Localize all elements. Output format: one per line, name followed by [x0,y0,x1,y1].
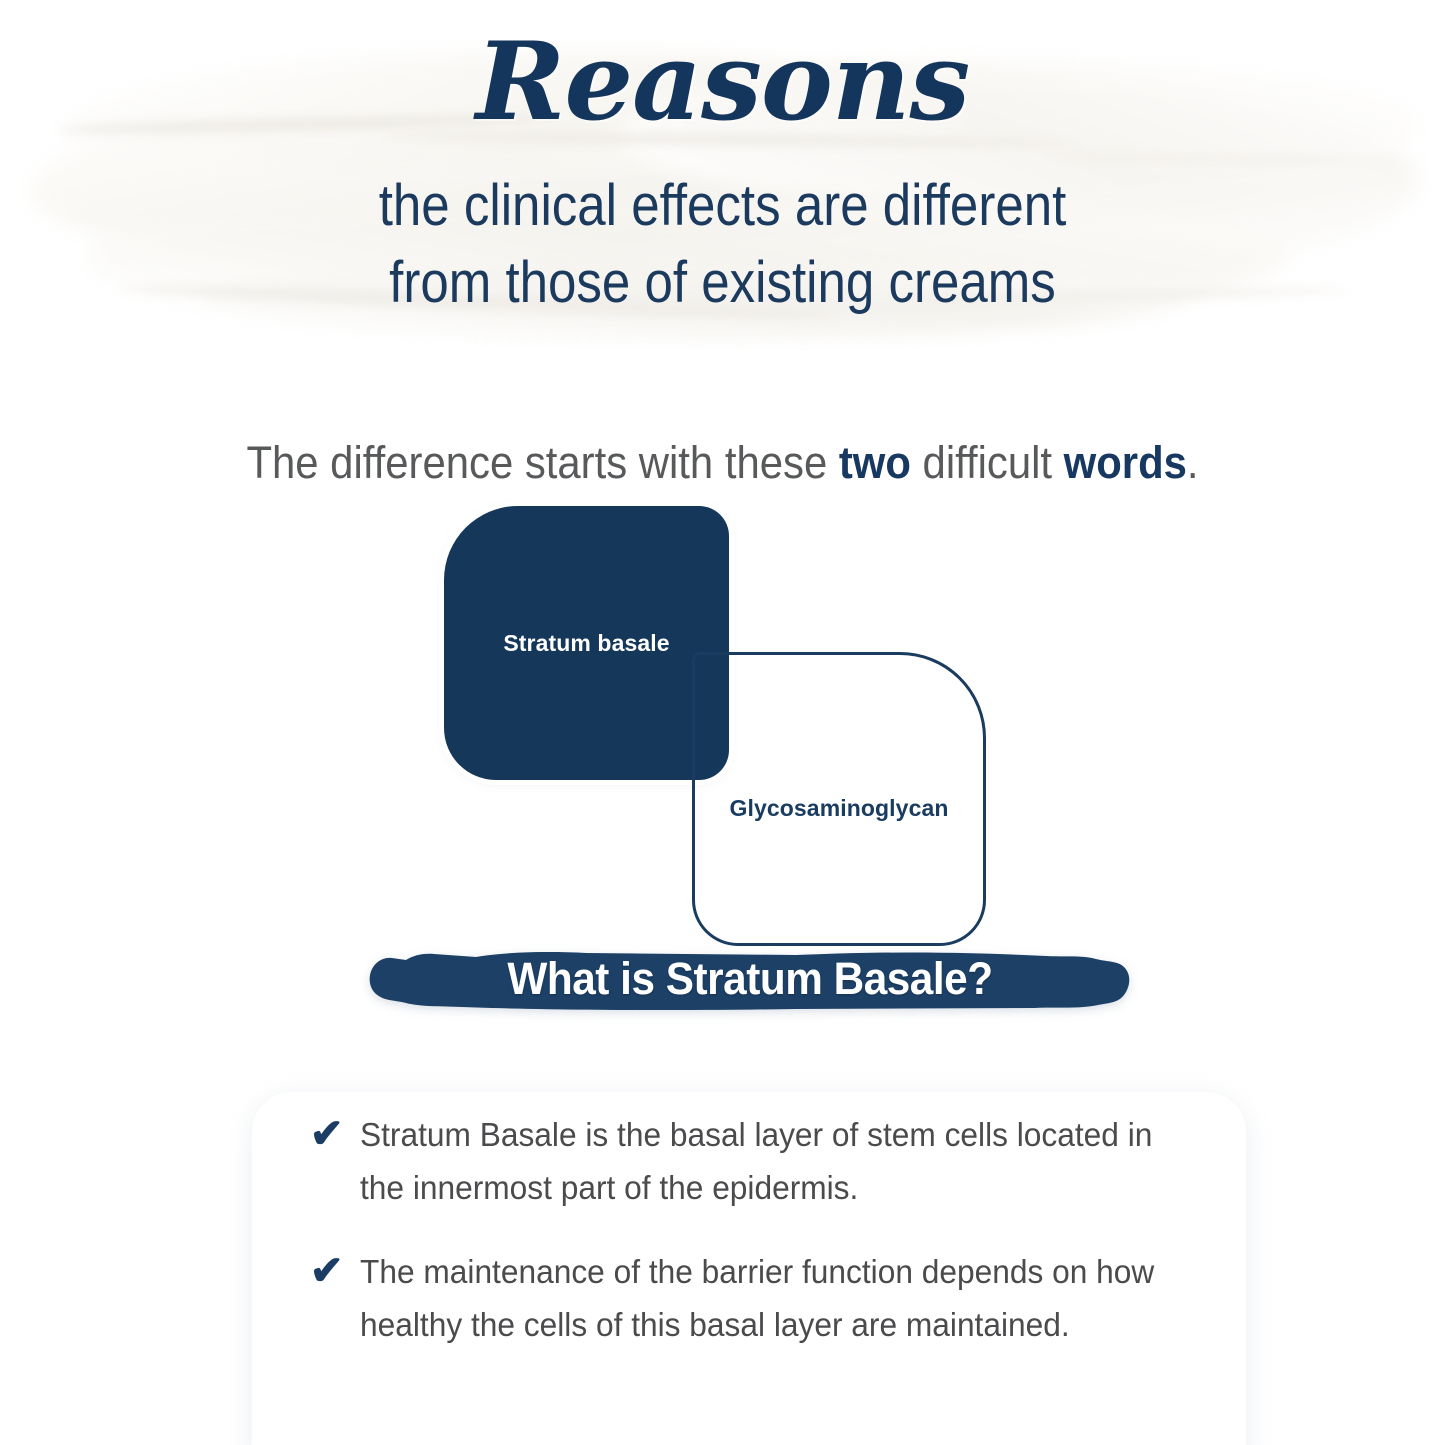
list-item: ✔ The maintenance of the barrier functio… [310,1245,1230,1352]
page-subtitle-line-2: from those of existing creams [87,245,1359,322]
lead-sentence: The difference starts with these two dif… [51,436,1395,490]
section-banner-label: What is Stratum Basale? [389,956,1111,1001]
check-icon: ✔ [310,1114,360,1154]
concept-box-glycosaminoglycan[interactable]: Glycosaminoglycan [692,652,986,946]
page-title: Reasons [0,28,1445,136]
infographic-page: Reasons the clinical effects are differe… [0,0,1445,1445]
lead-part-1: The difference starts with these [246,437,838,488]
concept-box-stratum-basale[interactable]: Stratum basale [444,506,729,780]
page-subtitle-line-1: the clinical effects are different [87,168,1359,245]
lead-emphasis-two: two [839,437,911,488]
list-item-text: The maintenance of the barrier function … [360,1245,1195,1352]
bullet-list: ✔ Stratum Basale is the basal layer of s… [310,1108,1230,1382]
list-item-text: Stratum Basale is the basal layer of ste… [360,1108,1195,1215]
page-subtitle: the clinical effects are different from … [87,168,1359,321]
list-item: ✔ Stratum Basale is the basal layer of s… [310,1108,1230,1215]
check-icon: ✔ [310,1251,360,1291]
lead-emphasis-words: words [1064,437,1187,488]
concept-box-stratum-basale-label: Stratum basale [444,630,729,657]
lead-part-2: difficult [911,437,1064,488]
cream-streak [1040,152,1400,166]
lead-part-3: . [1187,437,1199,488]
concept-box-glycosaminoglycan-label: Glycosaminoglycan [695,795,983,822]
section-banner: What is Stratum Basale? [366,947,1134,1013]
